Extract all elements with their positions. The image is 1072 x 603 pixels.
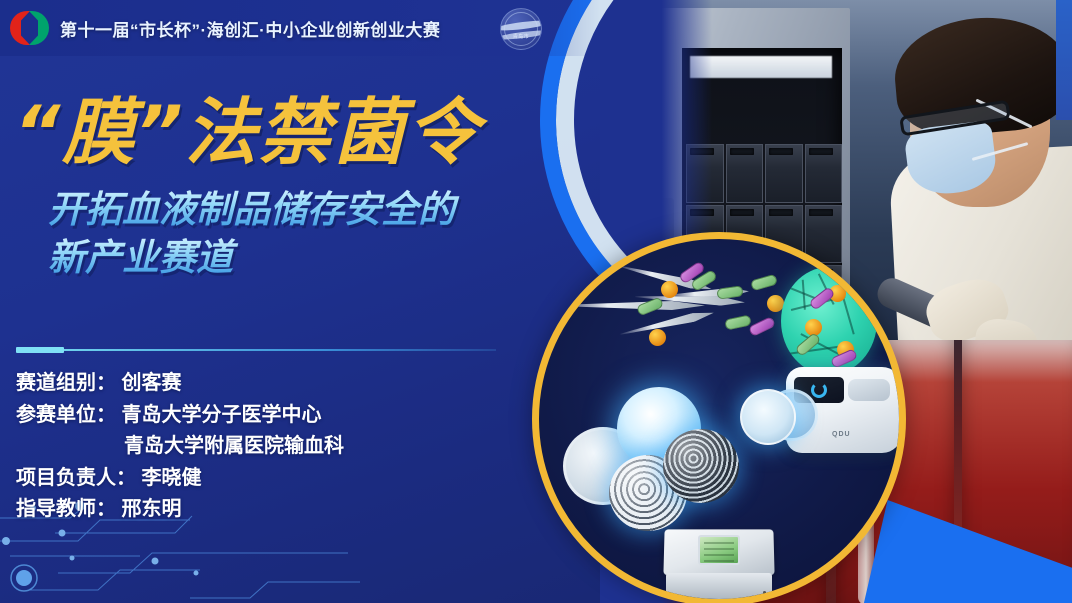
antibacterial-membrane bbox=[781, 267, 877, 375]
page-subtitle-line1: 开拓血液制品储存安全的 bbox=[0, 187, 560, 232]
bacteria-rod bbox=[716, 285, 743, 300]
page-subtitle-line2: 新产业赛道 bbox=[0, 235, 560, 280]
logo-green-arc bbox=[29, 11, 49, 45]
bacteria-rod bbox=[724, 314, 752, 330]
info-row-track-group: 赛道组别： 创客赛 bbox=[16, 368, 344, 400]
analyzer-screen bbox=[698, 535, 740, 565]
competition-logo-icon bbox=[10, 9, 50, 47]
bacteria-coccus bbox=[661, 281, 678, 298]
info-row-project-leader: 项目负责人： 李晓健 bbox=[16, 463, 344, 495]
info-row-organization-2: 青岛大学附属医院输血科 bbox=[16, 431, 344, 463]
device-progress-ring-icon bbox=[811, 382, 827, 398]
bacteria-rod bbox=[748, 316, 776, 337]
divider-line bbox=[64, 349, 496, 351]
info-row-organization: 参赛单位： 青岛大学分子医学中心 bbox=[16, 400, 344, 432]
poster-canvas: A RhD neg 第十一届“市长杯”·海创汇·中小企业创新创业大赛 bbox=[0, 0, 1072, 603]
benchtop-analyzer bbox=[664, 529, 774, 601]
analyzer-base bbox=[666, 573, 772, 599]
illustration-inner: QDU bbox=[539, 239, 899, 599]
product-circle-illustration: QDU bbox=[532, 232, 906, 603]
storage-drawer bbox=[805, 144, 843, 203]
header-title: 第十一届“市长杯”·海创汇·中小企业创新创业大赛 bbox=[60, 16, 440, 41]
section-divider bbox=[16, 347, 496, 353]
title-block: “膜”法禁菌令 开拓血液制品储存安全的 新产业赛道 bbox=[0, 96, 560, 280]
device-brand-text: QDU bbox=[832, 431, 851, 438]
project-info-block: 赛道组别： 创客赛 参赛单位： 青岛大学分子医学中心 青岛大学附属医院输血科 项… bbox=[16, 368, 344, 526]
analyzer-indicator bbox=[763, 591, 766, 594]
device-filter-cap bbox=[740, 389, 796, 445]
membrane-disc-porous-dark bbox=[663, 429, 739, 503]
bacteria-coccus bbox=[649, 329, 666, 346]
page-title: “膜”法禁菌令 bbox=[0, 96, 560, 169]
divider-accent bbox=[16, 347, 64, 353]
qingdao-city-emblem-icon: 青岛市 bbox=[500, 8, 542, 50]
logo-red-arc bbox=[10, 11, 30, 45]
info-row-advisor: 指导教师： 邢东明 bbox=[16, 494, 344, 526]
emblem-text: 青岛市 bbox=[501, 33, 541, 40]
portable-filtration-device: QDU bbox=[744, 367, 902, 459]
top-right-blue-band bbox=[1056, 0, 1072, 120]
bacteria-rod bbox=[750, 274, 778, 292]
device-handle bbox=[848, 379, 890, 401]
bacteria-rod bbox=[636, 297, 664, 317]
